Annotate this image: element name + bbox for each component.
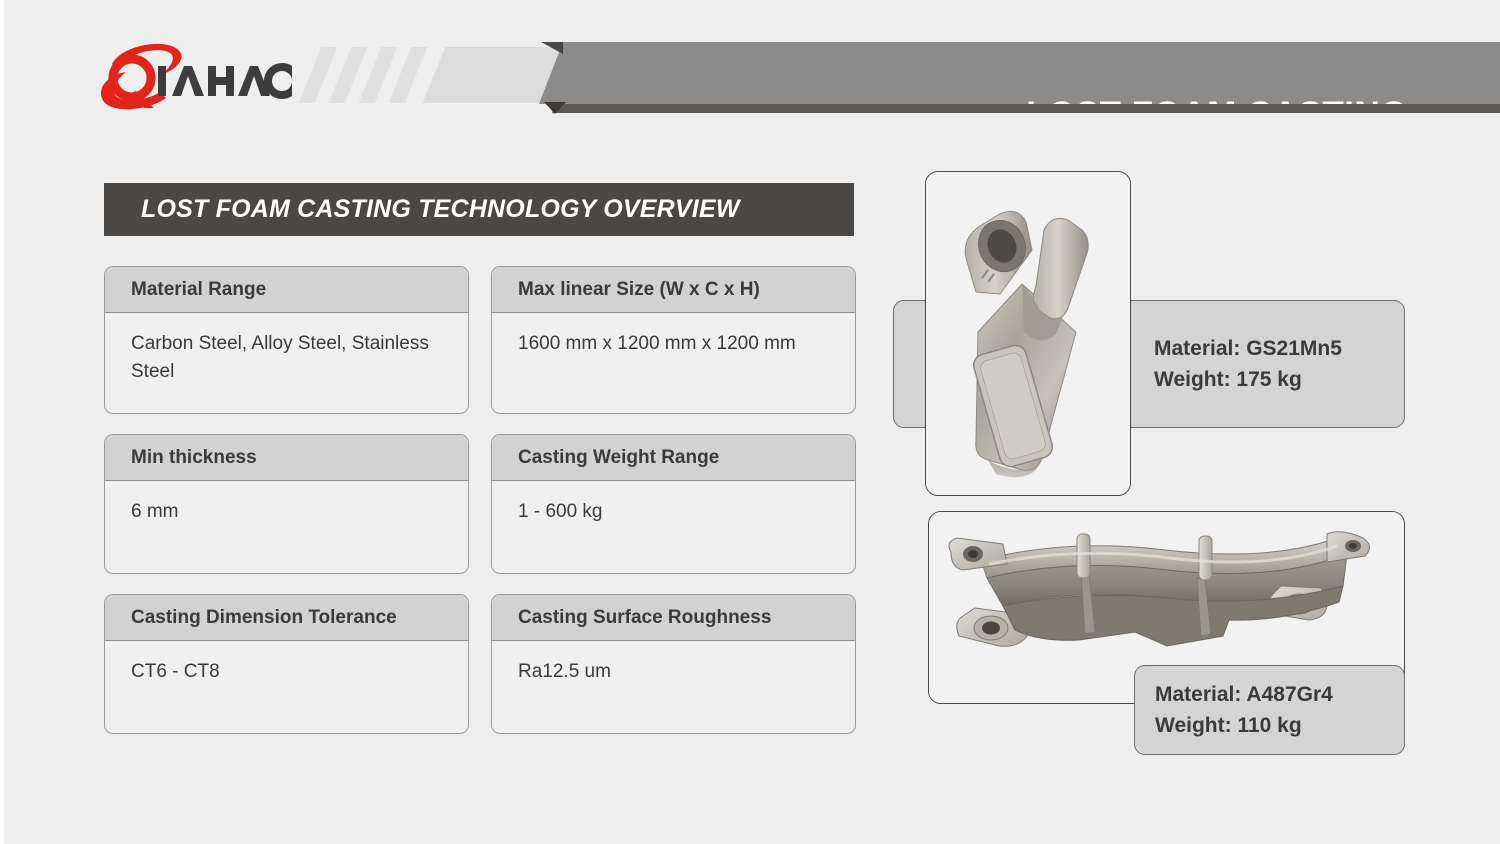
spec-card-label: Casting Dimension Tolerance <box>105 595 468 641</box>
sample-weight-text: Weight: 175 kg <box>1154 364 1404 395</box>
spec-grid: Material Range Carbon Steel, Alloy Steel… <box>104 266 856 754</box>
sample-weight-text: Weight: 110 kg <box>1155 710 1404 741</box>
qianhao-logo <box>92 42 292 114</box>
orbit-q-icon <box>92 42 292 114</box>
spec-row: Min thickness 6 mm Casting Weight Range … <box>104 434 856 574</box>
spec-card-value: 6 mm <box>105 481 468 573</box>
spec-card-value: 1600 mm x 1200 mm x 1200 mm <box>492 313 855 413</box>
spec-card-value: Ra12.5 um <box>492 641 855 733</box>
spec-card-label: Material Range <box>105 267 468 313</box>
spec-card-value: Carbon Steel, Alloy Steel, Stainless Ste… <box>105 313 468 413</box>
spec-card-casting-surface-roughness: Casting Surface Roughness Ra12.5 um <box>491 594 856 734</box>
spec-row: Casting Dimension Tolerance CT6 - CT8 Ca… <box>104 594 856 734</box>
sample-label-bar-2: Material: A487Gr4 Weight: 110 kg <box>1134 665 1405 755</box>
spec-card-value: 1 - 600 kg <box>492 481 855 573</box>
spec-card-label: Casting Weight Range <box>492 435 855 481</box>
spec-card-max-linear-size: Max linear Size (W x C x H) 1600 mm x 12… <box>491 266 856 414</box>
header-banner: LOST FOAM CASTING <box>539 42 1500 104</box>
sample-material-text: Material: A487Gr4 <box>1155 679 1404 710</box>
slide-header: LOST FOAM CASTING <box>4 0 1500 150</box>
header-stripe-4 <box>389 47 428 103</box>
spec-card-label: Max linear Size (W x C x H) <box>492 267 855 313</box>
banner-title: LOST FOAM CASTING <box>1026 90 1408 140</box>
spec-card-value: CT6 - CT8 <box>105 641 468 733</box>
spec-card-label: Casting Surface Roughness <box>492 595 855 641</box>
spec-card-label: Min thickness <box>105 435 468 481</box>
sample-material-text: Material: GS21Mn5 <box>1154 333 1404 364</box>
clevis-fork-casting-photo <box>926 172 1130 495</box>
spec-card-material-range: Material Range Carbon Steel, Alloy Steel… <box>104 266 469 414</box>
section-title-text: LOST FOAM CASTING TECHNOLOGY OVERVIEW <box>141 195 740 224</box>
spec-card-casting-weight-range: Casting Weight Range 1 - 600 kg <box>491 434 856 574</box>
sample-photo-card-1 <box>925 171 1131 496</box>
spec-row: Material Range Carbon Steel, Alloy Steel… <box>104 266 856 414</box>
section-title-bar: LOST FOAM CASTING TECHNOLOGY OVERVIEW <box>104 183 854 236</box>
slide-root: LOST FOAM CASTING LOST FOAM CASTING TECH… <box>0 0 1500 844</box>
spec-card-min-thickness: Min thickness 6 mm <box>104 434 469 574</box>
spec-card-casting-dimension-tolerance: Casting Dimension Tolerance CT6 - CT8 <box>104 594 469 734</box>
